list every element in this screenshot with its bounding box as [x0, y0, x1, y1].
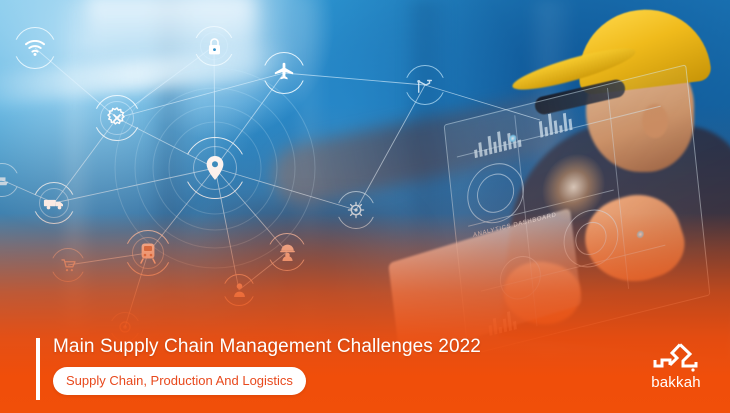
truck-icon	[43, 197, 65, 210]
shopping-cart-icon	[61, 259, 76, 272]
network-node-ship[interactable]	[0, 163, 19, 197]
network-node-wifi[interactable]	[14, 27, 56, 69]
network-node-factory[interactable]	[337, 191, 375, 229]
lock-icon	[207, 37, 222, 56]
robot-arm-icon	[416, 76, 434, 94]
location-pin-icon	[204, 155, 226, 181]
network-node-location[interactable]	[184, 137, 246, 199]
caption-accent-bar	[36, 338, 40, 400]
category-badge[interactable]: Supply Chain, Production And Logistics	[53, 367, 306, 395]
bakkah-logo[interactable]: bakkah	[640, 342, 712, 390]
ship-icon	[0, 173, 10, 187]
train-icon	[139, 242, 157, 264]
network-node-lock[interactable]	[194, 26, 234, 66]
gear-tools-icon	[105, 106, 129, 130]
network-node-airplane[interactable]	[263, 52, 305, 94]
wifi-icon	[25, 40, 45, 56]
network-node-truck[interactable]	[33, 182, 75, 224]
caption-block: Main Supply Chain Management Challenges …	[36, 335, 481, 395]
bakkah-calligraphy-mark	[650, 342, 702, 372]
network-node-gear[interactable]	[94, 95, 140, 141]
network-node-worker[interactable]	[268, 233, 306, 271]
network-node-cart[interactable]	[51, 248, 85, 282]
bakkah-wordmark: bakkah	[651, 375, 701, 390]
page-title: Main Supply Chain Management Challenges …	[53, 335, 481, 359]
airplane-icon	[273, 62, 295, 84]
target-icon	[118, 320, 132, 334]
network-node-person[interactable]	[223, 274, 255, 306]
person-icon	[233, 283, 246, 297]
network-node-train[interactable]	[125, 230, 171, 276]
network-node-robot-arm[interactable]	[405, 65, 445, 105]
supply-chain-banner: ANALYTICS DASHBOARD	[0, 0, 730, 413]
worker-helmet-icon	[279, 244, 296, 261]
factory-gear-icon	[347, 201, 365, 219]
